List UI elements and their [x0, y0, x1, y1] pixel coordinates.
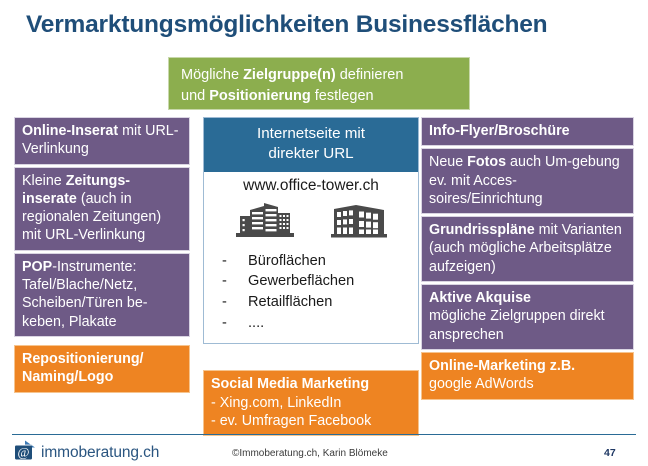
logo-text: immoberatung.ch	[41, 444, 159, 462]
header-box-line-1: Mögliche Zielgruppe(n) definieren	[181, 65, 469, 86]
website-header-line2: direkter URL	[208, 144, 414, 164]
list-dash: -	[222, 271, 227, 292]
card-zeitungsinserate-lead: Kleine	[22, 173, 66, 189]
list-item[interactable]: -Büroflächen	[222, 251, 418, 272]
immoberatung-logo[interactable]: @ immoberatung.ch	[14, 440, 159, 465]
header-line2-part3: festlegen	[311, 88, 374, 104]
list-item-label: Retailflächen	[248, 294, 332, 310]
card-online-inserat[interactable]: Online-Inserat mit URL-Verlinkung	[14, 117, 190, 165]
slide-canvas: Vermarktungsmöglichkeiten Businessfläche…	[0, 0, 648, 466]
list-item-label: Gewerbeflächen	[248, 273, 354, 289]
header-line1-bold: Zielgruppe(n)	[243, 67, 336, 83]
right-column: Info-Flyer/Broschüre Neue Fotos auch Um-…	[421, 117, 634, 402]
card-info-flyer[interactable]: Info-Flyer/Broschüre	[421, 117, 634, 146]
page-number: 47	[604, 447, 616, 459]
header-box-line-2: und Positionierung festlegen	[181, 86, 469, 107]
list-item-label: ....	[248, 315, 264, 331]
left-column: Online-Inserat mit URL-Verlinkung Kleine…	[14, 117, 190, 395]
copyright-text: ©Immoberatung.ch, Karin Blömeke	[232, 448, 388, 459]
svg-text:@: @	[18, 445, 30, 460]
header-line2-bold: Positionierung	[209, 88, 311, 104]
card-info-flyer-text: Info-Flyer/Broschüre	[429, 123, 570, 139]
card-fotos-bold: Fotos	[467, 154, 506, 170]
card-social-title: Social Media Marketing	[211, 376, 369, 392]
list-item[interactable]: -Retailflächen	[222, 292, 418, 313]
website-panel[interactable]: Internetseite mit direkter URL www.offic…	[203, 117, 419, 344]
page-title: Vermarktungsmöglichkeiten Businessfläche…	[26, 12, 626, 39]
card-neue-fotos[interactable]: Neue Fotos auch Um-gebung ev. mit Acces-…	[421, 148, 634, 214]
card-repositionierung-text: Repositionierung/ Naming/Logo	[22, 351, 144, 385]
space-type-list: -Büroflächen -Gewerbeflächen -Retailfläc…	[204, 251, 418, 344]
at-house-logo-icon: @	[14, 440, 36, 465]
card-zeitungsinserate[interactable]: Kleine Zeitungs-inserate (auch in region…	[14, 167, 190, 251]
header-line1-part1: Mögliche	[181, 67, 243, 83]
card-aktive-akquise[interactable]: Aktive Akquise mögliche Zielgruppen dire…	[421, 284, 634, 350]
website-url[interactable]: www.office-tower.ch	[204, 172, 418, 198]
website-panel-header: Internetseite mit direkter URL	[204, 118, 418, 172]
building-icons-row	[204, 198, 418, 251]
list-item[interactable]: -Gewerbeflächen	[222, 271, 418, 292]
center-column: Internetseite mit direkter URL www.offic…	[203, 117, 419, 438]
card-akquise-text: mögliche Zielgruppen direkt ansprechen	[429, 307, 626, 344]
card-social-line2: - Xing.com, LinkedIn	[211, 394, 411, 412]
footer-divider	[12, 434, 636, 435]
card-online-inserat-bold: Online-Inserat	[22, 123, 118, 139]
target-group-header-box: Mögliche Zielgruppe(n) definieren und Po…	[168, 57, 470, 110]
list-dash: -	[222, 313, 227, 334]
card-online-marketing[interactable]: Online-Marketing z.B. google AdWords	[421, 352, 634, 400]
card-pop-bold: POP	[22, 259, 52, 275]
list-dash: -	[222, 292, 227, 313]
office-building-icon	[234, 201, 296, 244]
card-grundrisse-bold: Grundrisspläne	[429, 222, 535, 238]
card-pop-instrumente[interactable]: POP-Instrumente: Tafel/Blache/Netz, Sche…	[14, 253, 190, 337]
header-line2-part1: und	[181, 88, 209, 104]
card-social-line3: - ev. Umfragen Facebook	[211, 412, 411, 430]
card-fotos-lead: Neue	[429, 154, 467, 170]
website-header-line1: Internetseite mit	[208, 124, 414, 144]
list-item[interactable]: -....	[222, 313, 418, 334]
list-item-label: Büroflächen	[248, 253, 326, 269]
card-grundrisspläne[interactable]: Grundrisspläne mit Varianten (auch mögli…	[421, 216, 634, 282]
card-online-marketing-text: google AdWords	[429, 375, 626, 393]
card-social-media-marketing[interactable]: Social Media Marketing - Xing.com, Linke…	[203, 370, 419, 436]
apartment-building-icon	[330, 201, 388, 244]
card-repositionierung[interactable]: Repositionierung/ Naming/Logo	[14, 345, 190, 393]
list-dash: -	[222, 251, 227, 272]
card-online-marketing-bold: Online-Marketing z.B.	[429, 358, 575, 374]
card-akquise-bold: Aktive Akquise	[429, 290, 531, 306]
header-line1-part3: definieren	[336, 67, 404, 83]
